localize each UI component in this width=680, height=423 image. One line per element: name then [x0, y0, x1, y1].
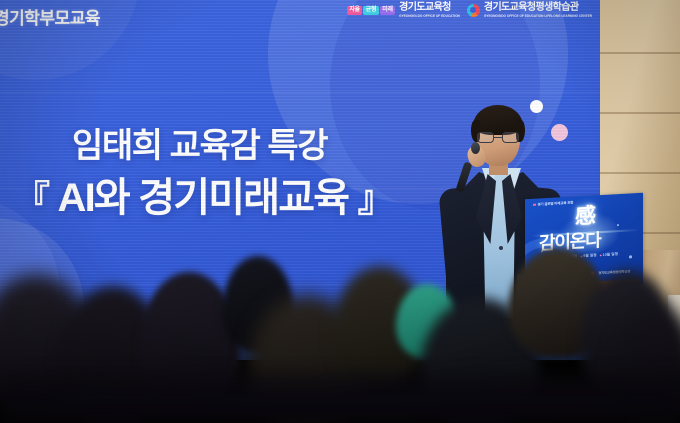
glasses-lens-left — [477, 132, 494, 143]
glasses-bridge — [494, 137, 502, 138]
logo-lifelong-learning-center: 경기도교육청평생학습관 GYEONGGIDO OFFICE OF EDUCATI… — [467, 3, 592, 18]
logo-text-sub: GYEONGGIDO OFFICE OF EDUCATION LIFELONG … — [484, 15, 592, 18]
logo-text-main: 경기도교육청 — [399, 2, 451, 13]
screen-logo-row: 자율 균형 미래 경기도교육청 GYEONGGI-DO OFFICE OF ED… — [347, 3, 592, 18]
logo-text-main: 경기도교육청평생학습관 — [484, 2, 579, 13]
logo-text-sub: GYEONGGI-DO OFFICE OF EDUCATION — [399, 15, 460, 18]
audience-foreground — [0, 250, 680, 423]
photo-stage: 경기학부모교육 자율 균형 미래 경기도교육청 GYEONGGI-DO OFFI… — [0, 0, 680, 423]
logo-label-education-office: 경기도교육청 GYEONGGI-DO OFFICE OF EDUCATION — [399, 3, 460, 18]
microphone-icon — [471, 142, 480, 154]
bracket-close-icon: 』 — [358, 178, 392, 219]
logo-gyeonggi-office-of-education: 자율 균형 미래 경기도교육청 GYEONGGI-DO OFFICE OF ED… — [347, 3, 460, 18]
ring-logo-icon — [467, 4, 480, 17]
screen-header-bar: 경기학부모교육 자율 균형 미래 경기도교육청 GYEONGGI-DO OFFI… — [0, 0, 600, 27]
logo-chip-3: 미래 — [380, 6, 395, 15]
audience-shoulder-band — [0, 372, 680, 423]
logo-chip-2: 균형 — [363, 6, 378, 15]
screen-brand-label: 경기학부모교육 — [0, 4, 100, 29]
logo-label-lifelong-center: 경기도교육청평생학습관 GYEONGGIDO OFFICE OF EDUCATI… — [484, 3, 592, 18]
glasses-icon — [476, 132, 520, 143]
lecture-title: AI와 경기미래교육 — [58, 176, 349, 220]
podium-hanja-glyph: 感 — [575, 205, 596, 227]
led-panel-seam — [0, 92, 600, 93]
logo-chip-1: 자율 — [347, 6, 362, 15]
glasses-lens-right — [502, 132, 519, 143]
bracket-open-icon: 『 — [14, 178, 48, 219]
podium-event-subtitle: 경기 글로벌 미래교육 포럼 — [533, 200, 573, 207]
